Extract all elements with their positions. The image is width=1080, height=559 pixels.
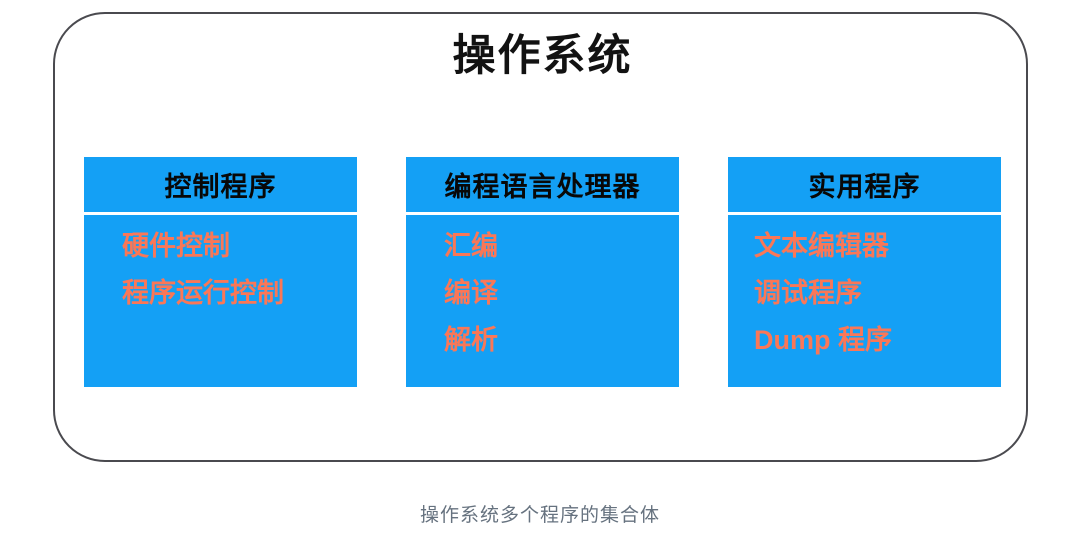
diagram-title: 操作系统 <box>55 32 1030 81</box>
card-header-language-processor: 编程语言处理器 <box>406 157 679 212</box>
program-category-row: 控制程序 硬件控制 程序运行控制 编程语言处理器 汇编 编译 解析 实用程序 文… <box>84 157 1001 387</box>
program-category-card-control: 控制程序 硬件控制 程序运行控制 <box>84 157 357 387</box>
card-item: 编译 <box>444 280 679 307</box>
card-header-utilities: 实用程序 <box>728 157 1001 212</box>
card-item: 解析 <box>444 327 679 354</box>
card-item: 程序运行控制 <box>122 280 357 307</box>
card-body-utilities: 文本编辑器 调试程序 Dump 程序 <box>728 215 1001 387</box>
card-item: 汇编 <box>444 233 679 260</box>
diagram-caption: 操作系统多个程序的集合体 <box>0 500 1080 527</box>
program-category-card-utilities: 实用程序 文本编辑器 调试程序 Dump 程序 <box>728 157 1001 387</box>
card-item: 文本编辑器 <box>754 233 1001 260</box>
card-item: 硬件控制 <box>122 233 357 260</box>
program-category-card-language-processor: 编程语言处理器 汇编 编译 解析 <box>406 157 679 387</box>
card-item: 调试程序 <box>754 280 1001 307</box>
card-header-control: 控制程序 <box>84 157 357 212</box>
card-item: Dump 程序 <box>754 327 1001 354</box>
card-body-language-processor: 汇编 编译 解析 <box>406 215 679 387</box>
card-body-control: 硬件控制 程序运行控制 <box>84 215 357 387</box>
operating-system-container: 操作系统 控制程序 硬件控制 程序运行控制 编程语言处理器 汇编 编译 解析 实… <box>53 12 1028 462</box>
